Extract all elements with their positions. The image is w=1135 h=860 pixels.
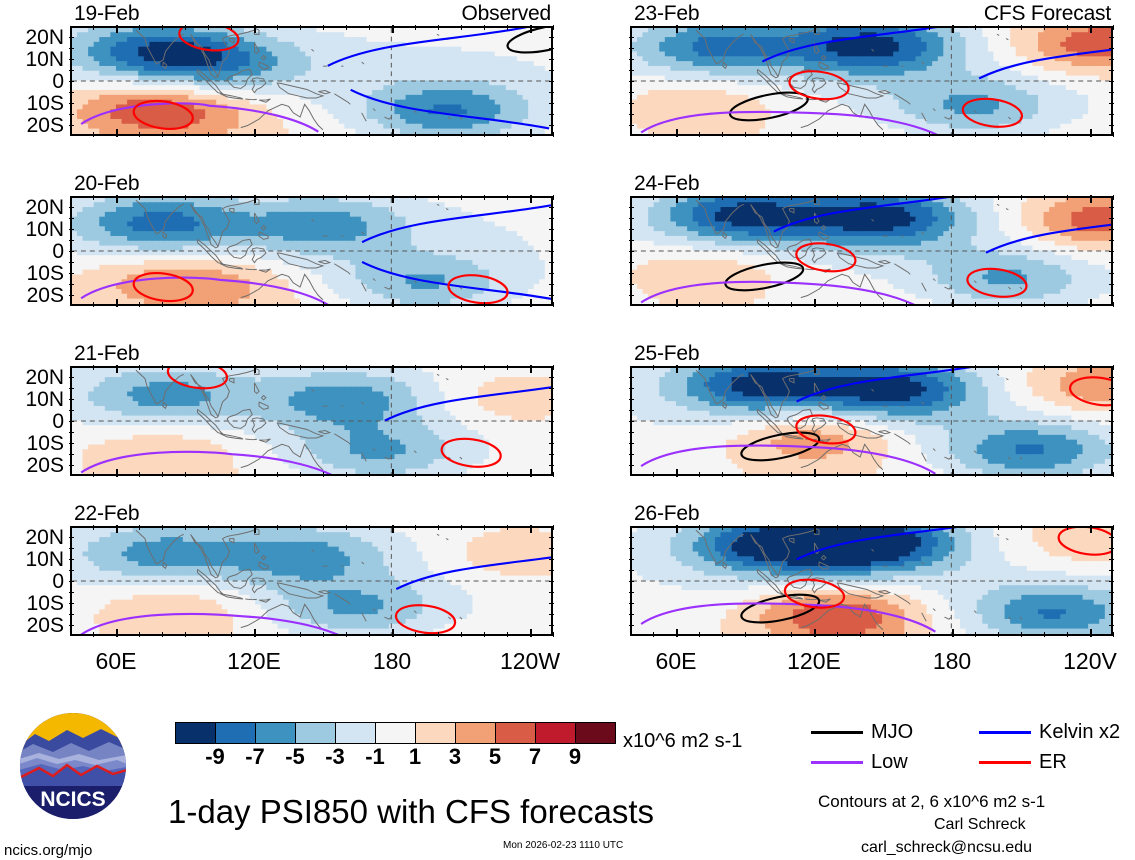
x-axis-tick <box>392 195 394 203</box>
x-axis-tick <box>1090 469 1092 477</box>
x-axis-tick <box>653 302 654 307</box>
x-axis-tick <box>254 129 256 137</box>
colorbar-tick-label: 7 <box>515 746 555 768</box>
x-axis-tick <box>415 132 416 137</box>
x-axis-tick <box>906 195 907 200</box>
x-axis-tick <box>277 132 278 137</box>
x-axis-tick <box>745 302 746 307</box>
x-axis-tick <box>1021 632 1022 637</box>
x-axis-tick <box>722 195 723 200</box>
x-axis-tick <box>93 525 94 530</box>
x-axis-tick <box>415 472 416 477</box>
panel-23-feb: 23-FebCFS Forecast <box>630 26 1113 136</box>
y-axis-tick <box>69 114 74 115</box>
y-axis-label: 10S <box>2 93 64 114</box>
x-axis-tick <box>1113 132 1114 137</box>
colorbar: -9-7-5-3-113579 <box>175 722 615 774</box>
y-axis-tick <box>1109 537 1114 538</box>
x-axis-tick <box>883 472 884 477</box>
x-axis-tick <box>1044 195 1045 200</box>
y-axis-tick <box>549 273 554 274</box>
x-axis-tick <box>722 132 723 137</box>
x-axis-label: 180 <box>892 650 1012 673</box>
y-axis-tick <box>69 81 74 82</box>
colorbar-swatch <box>175 722 216 744</box>
x-axis-tick <box>300 525 301 530</box>
y-axis-tick <box>1109 37 1114 38</box>
x-axis-tick <box>929 25 930 30</box>
x-axis-tick <box>300 472 301 477</box>
y-axis-tick <box>1109 207 1114 208</box>
x-axis-tick <box>837 195 838 200</box>
y-axis-tick <box>549 295 554 296</box>
x-axis-tick <box>653 472 654 477</box>
x-axis-tick <box>438 525 439 530</box>
x-axis-tick <box>768 632 769 637</box>
y-axis-label: 20S <box>2 285 64 306</box>
plot-area <box>630 196 1113 306</box>
x-axis-tick <box>323 365 324 370</box>
x-axis-tick <box>438 632 439 637</box>
legend-item-low: Low <box>811 752 961 774</box>
x-axis-tick <box>837 632 838 637</box>
y-axis-tick <box>69 37 74 38</box>
y-axis-label: 20N <box>2 367 64 388</box>
x-axis-tick <box>1044 525 1045 530</box>
panel-19-feb: 19-FebObserved20N10N010S20S <box>70 26 553 136</box>
x-axis-tick <box>254 25 256 33</box>
x-axis-tick <box>530 525 532 533</box>
y-axis-tick <box>69 284 74 285</box>
x-axis-tick <box>461 472 462 477</box>
panel-26-feb: 26-Feb60E120E180120V <box>630 526 1113 636</box>
y-axis-tick <box>69 614 74 615</box>
y-axis-label: 10N <box>2 389 64 410</box>
y-axis-tick <box>629 581 634 582</box>
x-axis-tick <box>254 365 256 373</box>
x-axis-tick <box>392 629 394 637</box>
y-axis-tick <box>69 262 74 263</box>
colorbar-tick-label: -3 <box>315 746 355 768</box>
y-axis-tick <box>549 454 554 455</box>
y-axis-tick <box>549 388 554 389</box>
x-axis-tick <box>369 132 370 137</box>
colorbar-tick-label: -7 <box>235 746 275 768</box>
x-axis-tick <box>139 132 140 137</box>
x-axis-tick <box>392 365 394 373</box>
x-axis-label: 120W <box>470 650 590 673</box>
x-axis-tick <box>1044 132 1045 137</box>
y-axis-tick <box>69 592 74 593</box>
colorbar-units-label: x10^6 m2 s-1 <box>623 731 742 751</box>
y-axis-label: 20N <box>2 27 64 48</box>
x-axis-tick <box>553 632 554 637</box>
y-axis-tick <box>1109 443 1114 444</box>
x-axis-tick <box>745 365 746 370</box>
x-axis-tick <box>814 629 816 637</box>
colorbar-tick-label: 9 <box>555 746 595 768</box>
x-axis-tick <box>653 632 654 637</box>
y-axis-tick <box>69 603 74 604</box>
x-axis-tick <box>93 302 94 307</box>
x-axis-tick <box>139 525 140 530</box>
x-axis-tick <box>116 525 118 533</box>
y-axis-tick <box>549 48 554 49</box>
x-axis-tick <box>392 469 394 477</box>
y-axis-tick <box>69 559 74 560</box>
y-axis-tick <box>69 570 74 571</box>
y-axis-label: 20S <box>2 455 64 476</box>
x-axis-tick <box>208 525 209 530</box>
y-axis-tick <box>629 559 634 560</box>
panel-date-label: 21-Feb <box>74 343 139 364</box>
x-axis-tick <box>1044 365 1045 370</box>
x-axis-tick <box>975 195 976 200</box>
y-axis-tick <box>69 240 74 241</box>
x-axis-tick <box>185 525 186 530</box>
plot-area <box>70 526 553 636</box>
x-axis-tick <box>860 525 861 530</box>
y-axis-tick <box>629 81 634 82</box>
x-axis-tick <box>653 132 654 137</box>
site-url[interactable]: ncics.org/mjo <box>4 843 92 858</box>
y-axis-tick <box>1109 603 1114 604</box>
x-axis-tick <box>507 132 508 137</box>
panel-date-label: 25-Feb <box>634 343 699 364</box>
x-axis-tick <box>929 472 930 477</box>
x-axis-tick <box>369 365 370 370</box>
x-axis-tick <box>952 299 954 307</box>
x-axis-tick <box>722 25 723 30</box>
y-axis-tick <box>629 273 634 274</box>
x-axis-tick <box>231 132 232 137</box>
x-axis-tick <box>530 365 532 373</box>
x-axis-tick <box>860 25 861 30</box>
y-axis-tick <box>69 625 74 626</box>
plot-area <box>70 26 553 136</box>
x-axis-tick <box>139 25 140 30</box>
x-axis-tick <box>438 25 439 30</box>
y-axis-tick <box>549 603 554 604</box>
x-axis-tick <box>676 195 678 203</box>
x-axis-tick <box>1021 25 1022 30</box>
x-axis-tick <box>1090 365 1092 373</box>
y-axis-label: 10S <box>2 593 64 614</box>
x-axis-tick <box>952 469 954 477</box>
x-axis-tick <box>484 472 485 477</box>
y-axis-tick <box>69 377 74 378</box>
colorbar-swatch <box>215 722 256 744</box>
x-axis-tick <box>1067 632 1068 637</box>
x-axis-tick <box>392 299 394 307</box>
x-axis-tick <box>906 472 907 477</box>
x-axis-tick <box>653 195 654 200</box>
x-axis-tick <box>162 525 163 530</box>
x-axis-tick <box>860 195 861 200</box>
x-axis-tick <box>860 365 861 370</box>
x-axis-tick <box>975 472 976 477</box>
x-axis-tick <box>369 525 370 530</box>
x-axis-tick <box>507 195 508 200</box>
x-axis-tick <box>116 365 118 373</box>
x-axis-tick <box>185 195 186 200</box>
legend-line-swatch <box>811 761 863 764</box>
x-axis-tick <box>208 632 209 637</box>
x-axis-tick <box>1021 365 1022 370</box>
y-axis-label: 10S <box>2 433 64 454</box>
main-title: 1-day PSI850 with CFS forecasts <box>168 795 654 828</box>
y-axis-label: 20S <box>2 615 64 636</box>
x-axis-tick <box>676 525 678 533</box>
y-axis-tick <box>1109 240 1114 241</box>
x-axis-tick <box>722 632 723 637</box>
y-axis-tick <box>629 388 634 389</box>
x-axis-tick <box>139 195 140 200</box>
x-axis-tick <box>975 525 976 530</box>
x-axis-tick <box>139 365 140 370</box>
x-axis-tick <box>346 25 347 30</box>
y-axis-tick <box>1109 548 1114 549</box>
y-axis-tick <box>1109 125 1114 126</box>
map-canvas <box>72 198 551 304</box>
x-axis-tick <box>1090 525 1092 533</box>
y-axis-tick <box>629 284 634 285</box>
x-axis-tick <box>998 302 999 307</box>
y-axis-tick <box>549 207 554 208</box>
x-axis-tick <box>745 195 746 200</box>
map-canvas <box>632 198 1111 304</box>
y-axis-tick <box>629 454 634 455</box>
legend-label: Low <box>871 752 908 772</box>
x-axis-tick <box>323 632 324 637</box>
x-axis-tick <box>461 132 462 137</box>
x-axis-tick <box>883 525 884 530</box>
x-axis-tick <box>768 472 769 477</box>
x-axis-tick <box>929 132 930 137</box>
y-axis-tick <box>1109 262 1114 263</box>
y-axis-tick <box>549 251 554 252</box>
y-axis-tick <box>1109 70 1114 71</box>
x-axis-tick <box>254 469 256 477</box>
x-axis-tick <box>975 25 976 30</box>
x-axis-tick <box>745 25 746 30</box>
y-axis-tick <box>69 443 74 444</box>
x-axis-tick <box>415 525 416 530</box>
y-axis-tick <box>1109 410 1114 411</box>
x-axis-tick <box>699 632 700 637</box>
x-axis-tick <box>277 632 278 637</box>
x-axis-tick <box>185 472 186 477</box>
y-axis-tick <box>1109 432 1114 433</box>
x-axis-tick <box>676 469 678 477</box>
y-axis-tick <box>549 70 554 71</box>
x-axis-tick <box>530 195 532 203</box>
y-axis-tick <box>629 207 634 208</box>
x-axis-tick <box>277 472 278 477</box>
y-axis-tick <box>549 229 554 230</box>
y-axis-tick <box>1109 103 1114 104</box>
x-axis-tick <box>93 365 94 370</box>
x-axis-tick <box>231 472 232 477</box>
x-axis-tick <box>300 632 301 637</box>
x-axis-tick <box>530 25 532 33</box>
x-axis-tick <box>837 525 838 530</box>
x-axis-tick <box>1021 132 1022 137</box>
colorbar-tick-label: -5 <box>275 746 315 768</box>
legend-label: Kelvin x2 <box>1039 722 1120 742</box>
x-axis-tick <box>814 129 816 137</box>
x-axis-tick <box>906 132 907 137</box>
panel-21-feb: 21-Feb20N10N010S20S <box>70 366 553 476</box>
x-axis-tick <box>699 302 700 307</box>
x-axis-tick <box>1113 632 1114 637</box>
x-axis-tick <box>369 302 370 307</box>
x-axis-tick <box>346 132 347 137</box>
x-axis-tick <box>208 25 209 30</box>
x-axis-tick <box>1067 195 1068 200</box>
y-axis-tick <box>1109 284 1114 285</box>
x-axis-tick <box>553 25 554 30</box>
y-axis-tick <box>69 48 74 49</box>
y-axis-tick <box>629 103 634 104</box>
x-axis-tick <box>952 365 954 373</box>
x-axis-tick <box>676 299 678 307</box>
x-axis-tick <box>768 195 769 200</box>
x-axis-tick <box>553 365 554 370</box>
y-axis-tick <box>549 377 554 378</box>
x-axis-tick <box>768 132 769 137</box>
y-axis-label: 0 <box>2 411 64 432</box>
y-axis-label: 0 <box>2 71 64 92</box>
x-axis-tick <box>346 632 347 637</box>
x-axis-tick <box>208 302 209 307</box>
x-axis-tick <box>415 632 416 637</box>
x-axis-tick <box>415 365 416 370</box>
y-axis-tick <box>549 614 554 615</box>
x-axis-tick <box>254 299 256 307</box>
plot-area <box>630 26 1113 136</box>
x-axis-tick <box>1067 132 1068 137</box>
y-axis-label: 10N <box>2 219 64 240</box>
y-axis-tick <box>1109 625 1114 626</box>
y-axis-tick <box>1109 581 1114 582</box>
x-axis-tick <box>998 632 999 637</box>
x-axis-tick <box>507 365 508 370</box>
x-axis-tick <box>277 302 278 307</box>
x-axis-tick <box>300 195 301 200</box>
x-axis-tick <box>1113 195 1114 200</box>
colorbar-swatch <box>335 722 376 744</box>
x-axis-tick <box>323 302 324 307</box>
y-axis-tick <box>1109 377 1114 378</box>
colorbar-swatch <box>535 722 576 744</box>
y-axis-tick <box>629 443 634 444</box>
y-axis-tick <box>1109 59 1114 60</box>
panel-date-label: 24-Feb <box>634 173 699 194</box>
ncics-logo: NCICS <box>19 712 127 820</box>
x-axis-tick <box>300 365 301 370</box>
map-canvas <box>72 28 551 134</box>
legend-line-swatch <box>979 731 1031 734</box>
y-axis-tick <box>629 410 634 411</box>
x-axis-tick <box>699 365 700 370</box>
x-axis-tick <box>553 525 554 530</box>
y-axis-tick <box>629 548 634 549</box>
y-axis-tick <box>549 559 554 560</box>
y-axis-tick <box>549 432 554 433</box>
x-axis-tick <box>745 632 746 637</box>
map-canvas <box>72 368 551 474</box>
x-axis-tick <box>116 129 118 137</box>
colorbar-swatch <box>495 722 536 744</box>
y-axis-tick <box>629 37 634 38</box>
x-axis-tick <box>745 472 746 477</box>
y-axis-tick <box>1109 81 1114 82</box>
x-axis-tick <box>369 472 370 477</box>
x-axis-tick <box>116 469 118 477</box>
panel-date-label: 19-Feb <box>74 3 139 24</box>
x-axis-tick <box>837 25 838 30</box>
author-name: Carl Schreck <box>934 817 1026 833</box>
x-axis-tick <box>93 472 94 477</box>
y-axis-tick <box>1109 399 1114 400</box>
x-axis-tick <box>1067 25 1068 30</box>
x-axis-tick <box>346 365 347 370</box>
x-axis-tick <box>814 469 816 477</box>
y-axis-tick <box>549 240 554 241</box>
x-axis-tick <box>676 25 678 33</box>
x-axis-tick <box>484 302 485 307</box>
y-axis-tick <box>69 218 74 219</box>
panel-24-feb: 24-Feb <box>630 196 1113 306</box>
x-axis-tick <box>1090 299 1092 307</box>
colorbar-tick-label: -1 <box>355 746 395 768</box>
y-axis-tick <box>69 421 74 422</box>
x-axis-tick <box>346 302 347 307</box>
y-axis-tick <box>629 614 634 615</box>
y-axis-tick <box>549 262 554 263</box>
x-axis-tick <box>507 25 508 30</box>
x-axis-tick <box>277 195 278 200</box>
x-axis-tick <box>116 25 118 33</box>
x-axis-tick <box>185 25 186 30</box>
x-axis-tick <box>699 472 700 477</box>
x-axis-tick <box>722 365 723 370</box>
y-axis-tick <box>629 251 634 252</box>
y-axis-tick <box>1109 229 1114 230</box>
x-axis-tick <box>1090 129 1092 137</box>
y-axis-tick <box>549 37 554 38</box>
y-axis-tick <box>629 262 634 263</box>
x-axis-tick <box>860 132 861 137</box>
x-axis-tick <box>93 132 94 137</box>
y-axis-tick <box>69 229 74 230</box>
y-axis-tick <box>69 103 74 104</box>
x-axis-tick <box>139 632 140 637</box>
x-axis-tick <box>507 525 508 530</box>
y-axis-tick <box>629 377 634 378</box>
x-axis-tick <box>162 472 163 477</box>
x-axis-tick <box>185 132 186 137</box>
panel-date-label: 22-Feb <box>74 503 139 524</box>
x-axis-tick <box>392 129 394 137</box>
y-axis-tick <box>69 388 74 389</box>
x-axis-tick <box>93 195 94 200</box>
x-axis-tick <box>93 632 94 637</box>
x-axis-tick <box>277 365 278 370</box>
x-axis-label: 60E <box>56 650 176 673</box>
x-axis-tick <box>814 299 816 307</box>
